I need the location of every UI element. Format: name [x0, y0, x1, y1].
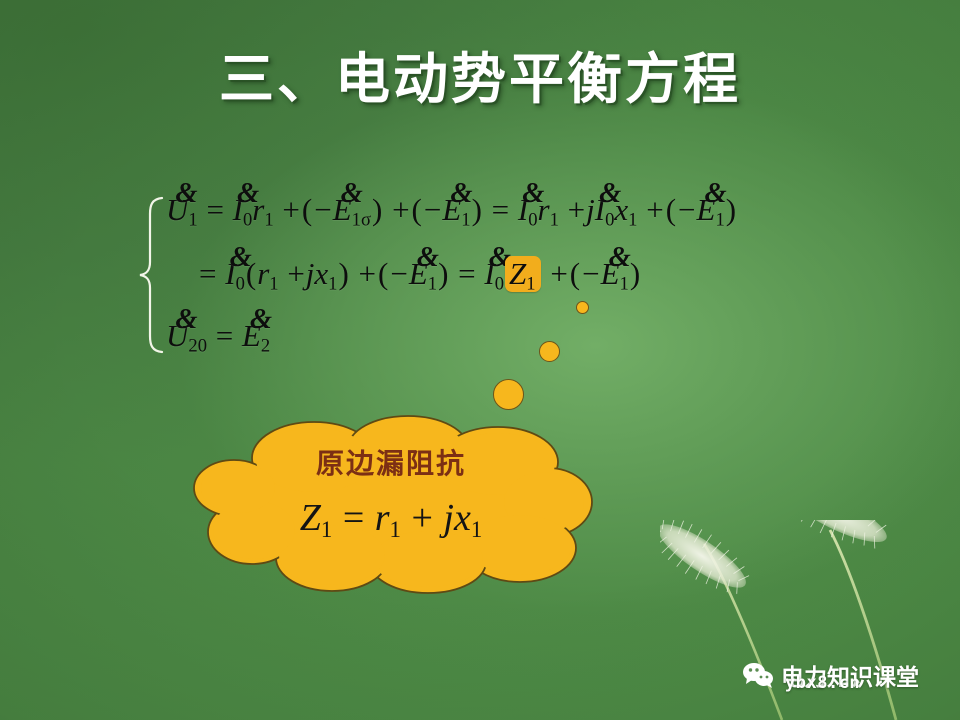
phasor-I0-b: I& — [518, 194, 528, 225]
phasor-E1: E& — [442, 194, 461, 225]
phasor-E1-c: E& — [409, 258, 428, 289]
phasor-I0-e: I& — [484, 258, 494, 289]
watermark: 电力知识课堂 ybx8.cn — [742, 658, 919, 692]
phasor-E1-b: E& — [697, 194, 716, 225]
slide-canvas: 三、电动势平衡方程 U&1 = I&0r1 +(−E&1σ) +(−E&1) =… — [0, 0, 960, 720]
page-title: 三、电动势平衡方程 — [0, 34, 960, 114]
equation-line-2: = I&0(r1 +jx1) +(−E&1) = I&0Z1 +(−E&1) — [198, 256, 641, 292]
phasor-E1-d: E& — [601, 258, 620, 289]
phasor-U20: U& — [166, 320, 188, 351]
equation-line-3: U&20 = E&2 — [166, 320, 270, 351]
phasor-I0-c: I& — [595, 194, 605, 225]
callout-trail-dot-small — [576, 301, 589, 314]
cloud-shape-icon — [186, 414, 596, 596]
cloud-callout: 原边漏阻抗 Z1 = r1 + jx1 — [186, 414, 596, 596]
curly-brace-icon — [138, 196, 164, 354]
callout-trail-dot-large — [493, 379, 524, 410]
equation-block: U&1 = I&0r1 +(−E&1σ) +(−E&1) = I&0r1 +jI… — [138, 186, 838, 376]
wechat-icon — [742, 662, 774, 688]
equation-line-1: U&1 = I&0r1 +(−E&1σ) +(−E&1) = I&0r1 +jI… — [166, 194, 737, 225]
phasor-I0: I& — [233, 194, 243, 225]
phasor-I0-d: I& — [225, 258, 235, 289]
callout-trail-dot-medium — [539, 341, 560, 362]
phasor-E1sigma: E& — [333, 194, 352, 225]
highlighted-impedance-Z1: Z1 — [505, 256, 541, 292]
dot-accent-artifact: & — [175, 180, 197, 209]
watermark-url: ybx8.cn — [785, 673, 860, 693]
phasor-U1: U& — [166, 194, 188, 225]
phasor-E2: E& — [242, 320, 261, 351]
watermark-text: 电力知识课堂 ybx8.cn — [781, 658, 919, 692]
